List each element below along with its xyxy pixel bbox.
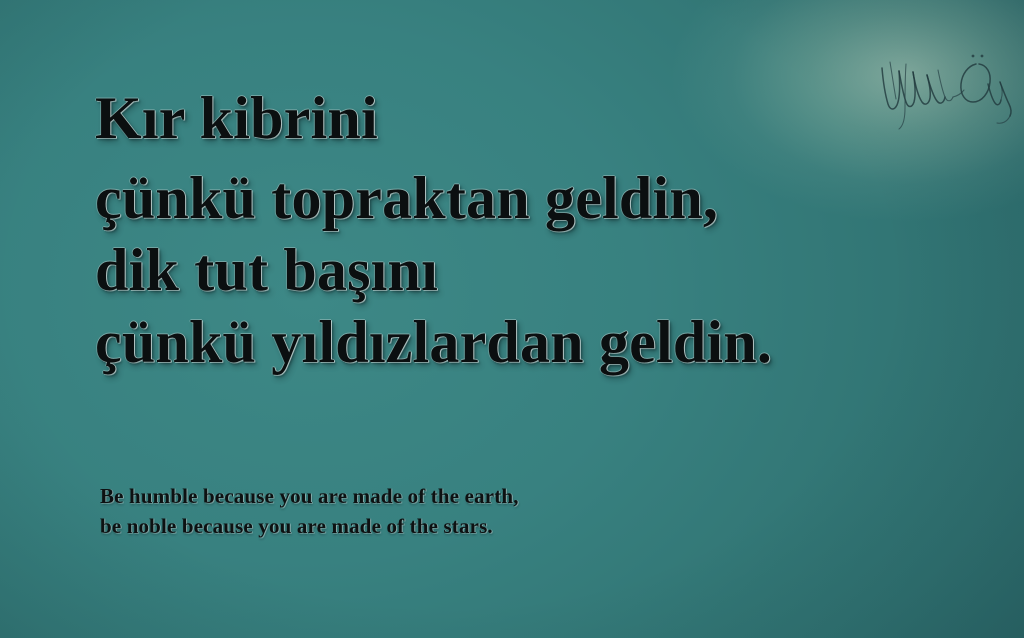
english-translation-block: Be humble because you are made of the ea…	[100, 482, 920, 542]
quote-poster: Kır kibrini çünkü topraktan geldin, dik …	[0, 0, 1024, 638]
quote-line-3: dik tut başını	[95, 240, 995, 300]
translation-line-1: Be humble because you are made of the ea…	[100, 482, 920, 512]
translation-line-2: be noble because you are made of the sta…	[100, 512, 920, 542]
artist-signature: Ufuk Ören	[872, 44, 1012, 130]
quote-line-1: Kır kibrini	[95, 88, 995, 148]
turkish-quote-block: Kır kibrini çünkü topraktan geldin, dik …	[95, 88, 995, 372]
quote-line-4: çünkü yıldızlardan geldin.	[95, 312, 995, 372]
quote-line-2: çünkü topraktan geldin,	[95, 168, 995, 228]
